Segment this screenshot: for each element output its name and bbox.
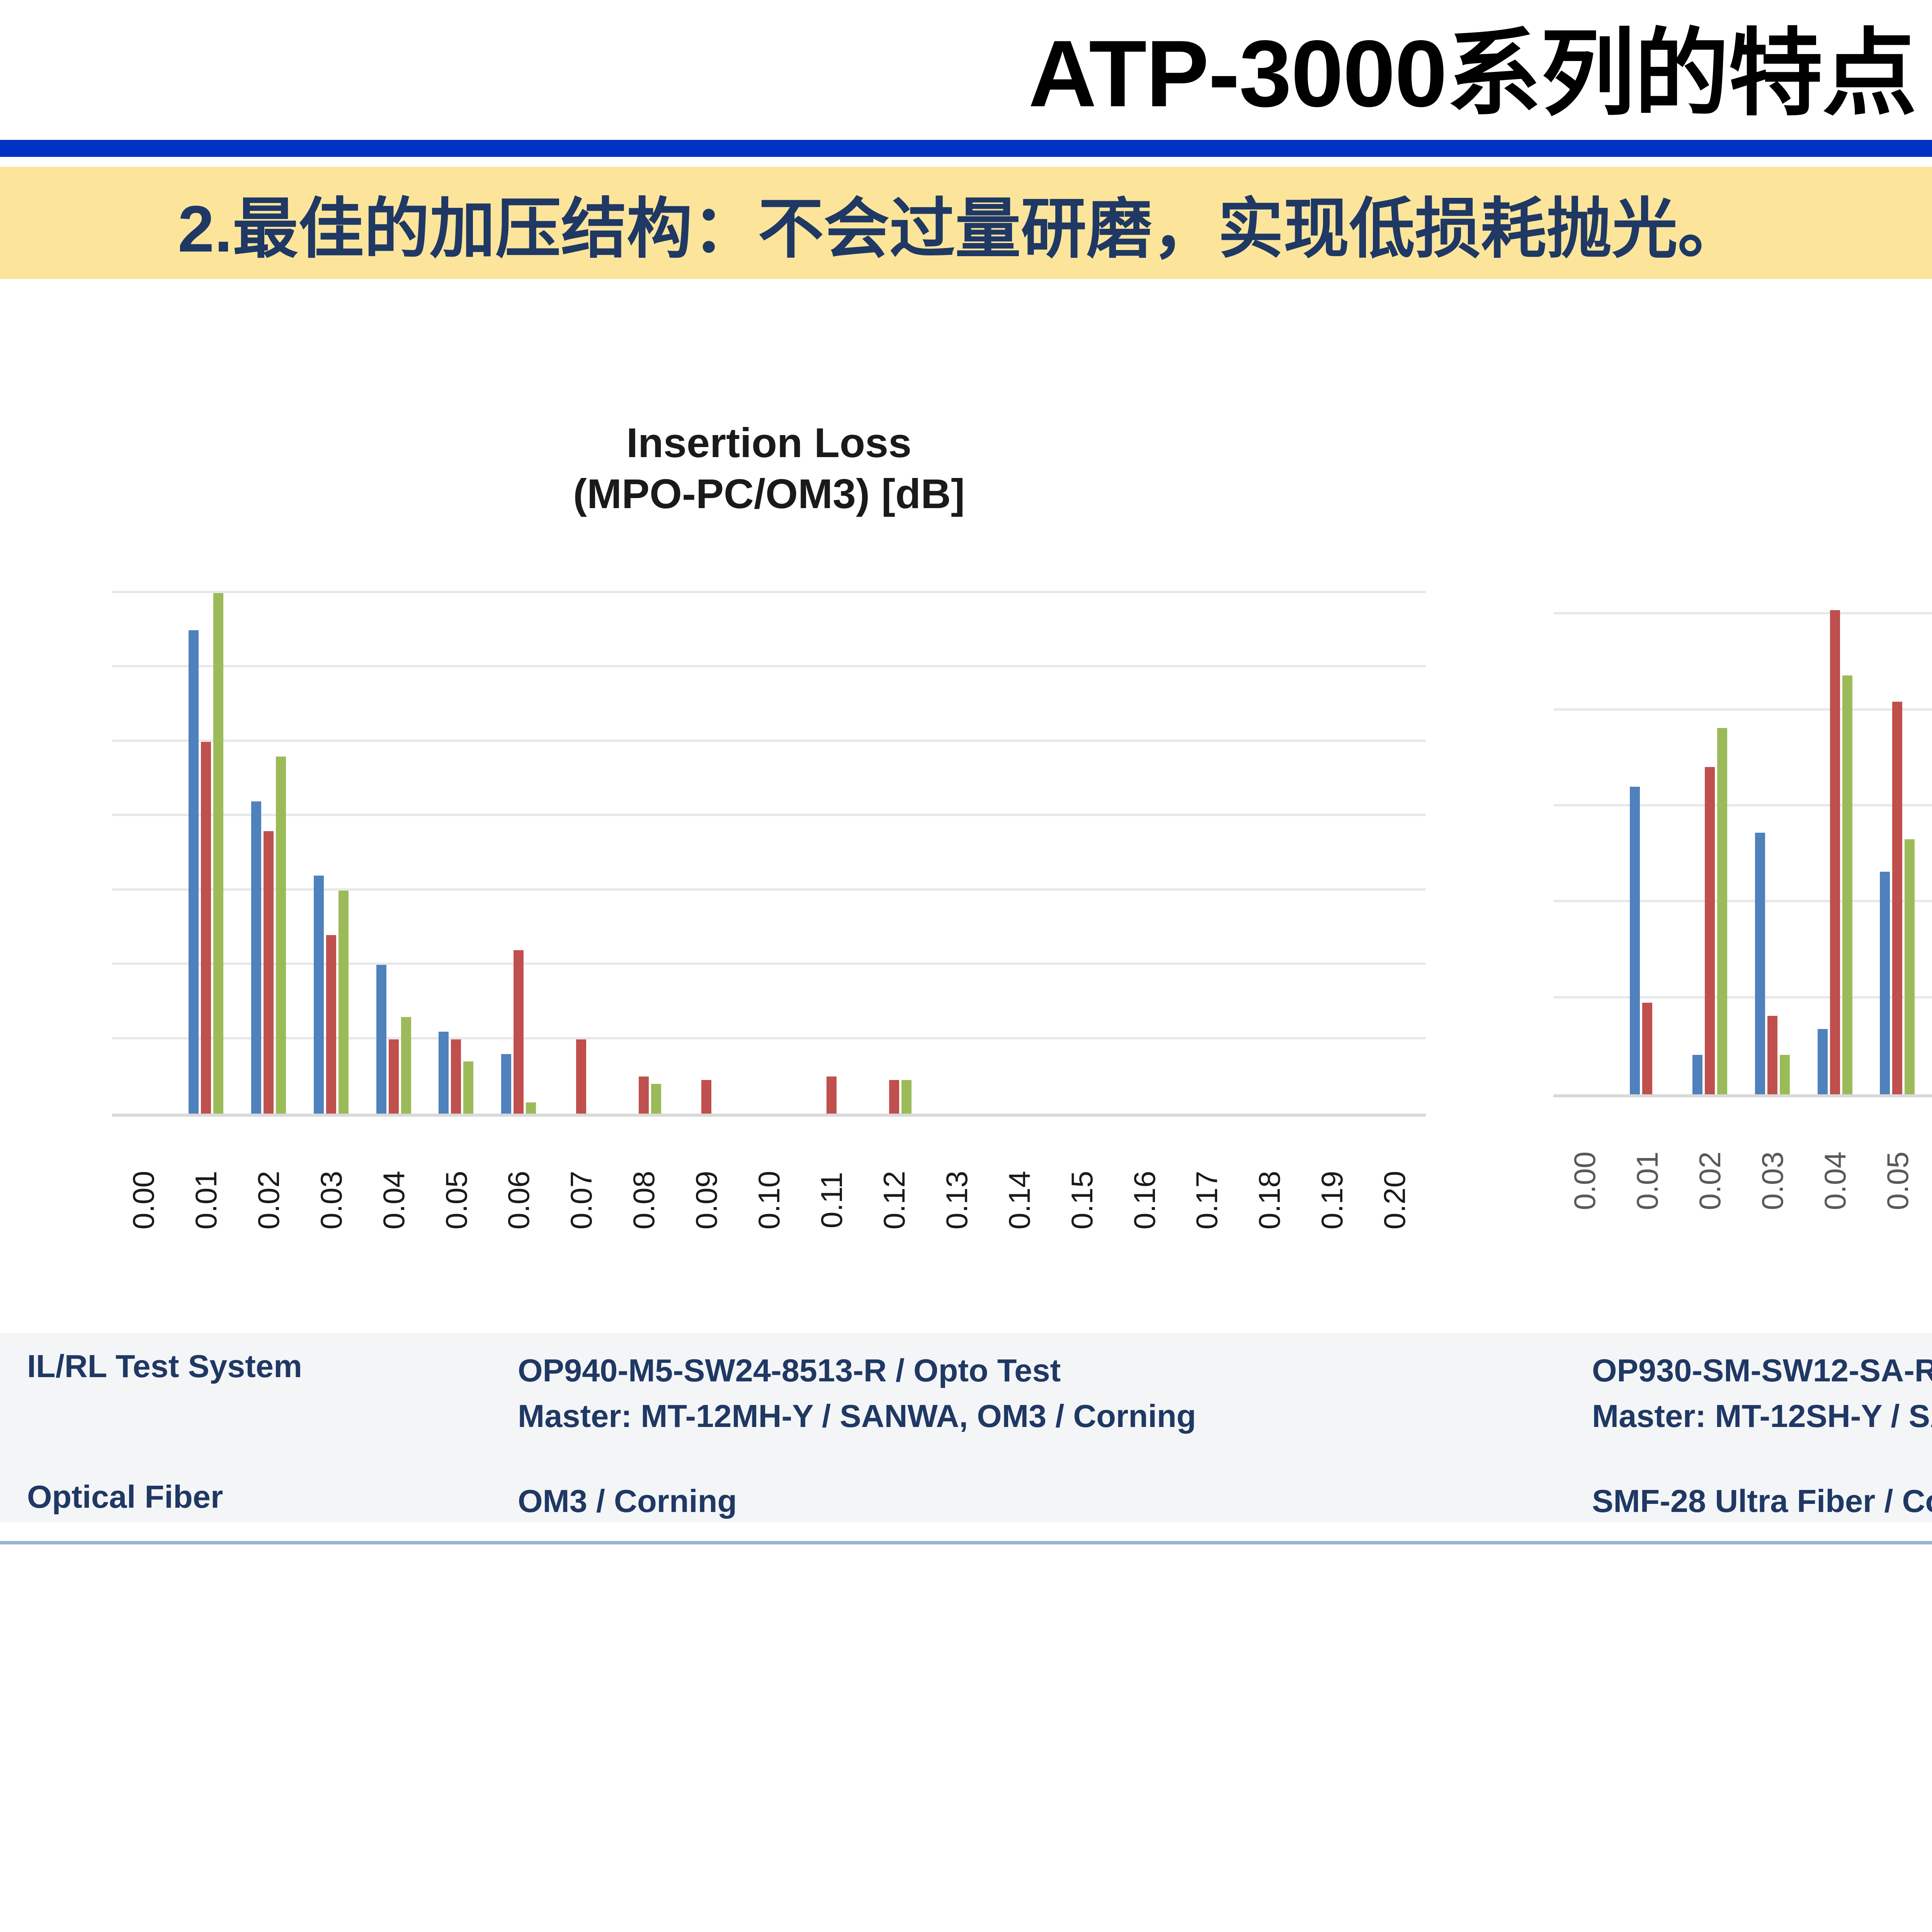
bar-group: [1553, 519, 1616, 1094]
chart-title-left: Insertion Loss (MPO-PC/OM3) [dB]: [112, 417, 1426, 522]
bar: [827, 1077, 837, 1114]
bar-group: [738, 519, 800, 1114]
x-tick-label: 0.09: [691, 1171, 721, 1230]
x-tick: 0.12: [863, 1121, 925, 1291]
row-label-optical-fiber: Optical Fiber: [27, 1478, 518, 1515]
x-tick: 0.20: [1363, 1121, 1426, 1291]
x-tick: 0.04: [362, 1121, 425, 1291]
bar-group: [1301, 519, 1363, 1114]
chart-title-left-line2: (MPO-PC/OM3) [dB]: [112, 468, 1426, 519]
x-tick-label: 0.01: [1632, 1151, 1662, 1210]
test-conditions-table-right: OP930-SM-SW12-SA-R / Opto Test Master: M…: [1592, 1333, 1932, 1522]
x-tick-label: 0.08: [629, 1171, 659, 1230]
table-row: SMF-28 Ultra Fiber / Corning: [1592, 1475, 1932, 1536]
x-tick-label: 0.19: [1317, 1171, 1347, 1230]
x-tick-label: 0.03: [1757, 1151, 1787, 1210]
bar-group: [925, 519, 988, 1114]
bar: [501, 1054, 511, 1114]
x-tick: 0.03: [1741, 1102, 1804, 1272]
x-tick: 0.06: [1929, 1102, 1932, 1272]
x-tick-label: 0.11: [816, 1172, 847, 1228]
bar: [514, 950, 524, 1114]
bar-group: [1679, 519, 1741, 1094]
subtitle-banner: 2.最佳的加压结构：不会过量研磨，实现低损耗抛光。: [0, 167, 1932, 279]
bar-group: [425, 519, 488, 1114]
test-conditions-table-left: IL/RL Test System OP940-M5-SW24-8513-R /…: [27, 1333, 1526, 1522]
bar: [401, 1017, 411, 1114]
x-tick: 0.03: [300, 1121, 362, 1291]
x-tick: 0.02: [237, 1121, 300, 1291]
x-tick-label: 0.05: [1882, 1151, 1912, 1210]
bar-series-container-left: [112, 519, 1426, 1114]
x-tick-label: 0.16: [1129, 1171, 1159, 1230]
x-tick: 0.09: [675, 1121, 738, 1291]
bar: [1717, 728, 1727, 1094]
x-tick-label: 0.18: [1254, 1171, 1284, 1230]
plot-wrapper-left: 0.000.010.020.030.040.050.060.070.080.09…: [112, 522, 1426, 1291]
title-divider-rule: [0, 140, 1932, 157]
bar: [1705, 767, 1715, 1094]
x-tick-label: 0.01: [191, 1171, 221, 1230]
x-tick: 0.00: [1553, 1102, 1616, 1272]
bar-group: [237, 519, 300, 1114]
x-tick-label: 0.04: [379, 1171, 409, 1230]
x-tick-label: 0.06: [503, 1171, 534, 1230]
bar-group: [1616, 519, 1679, 1094]
x-tick-label: 0.02: [253, 1171, 284, 1230]
x-tick-label: 0.12: [879, 1171, 909, 1230]
footer: NTT AT Copyright© 2018 NTT Advanced Tech…: [0, 1544, 1932, 1656]
x-axis-tick-labels-right: 0.000.010.020.030.040.050.060.070.080.09…: [1553, 1102, 1932, 1272]
row-value-optical-fiber: OM3 / Corning: [518, 1478, 737, 1524]
bar: [338, 891, 349, 1114]
test-conditions-strip: IL/RL Test System OP940-M5-SW24-8513-R /…: [0, 1333, 1932, 1522]
bar: [651, 1084, 661, 1114]
chart-panel-mpo-pc-om3: Insertion Loss (MPO-PC/OM3) [dB] 0.000.0…: [112, 417, 1426, 1291]
table-row: OP930-SM-SW12-SA-R / Opto Test Master: M…: [1592, 1333, 1932, 1475]
x-tick: 0.19: [1301, 1121, 1363, 1291]
x-tick: 0.04: [1804, 1102, 1866, 1272]
x-tick-label: 0.04: [1820, 1151, 1850, 1210]
x-tick-label: 0.02: [1695, 1151, 1725, 1210]
bar-group: [1363, 519, 1426, 1114]
x-tick-label: 0.00: [128, 1171, 158, 1230]
bar-group: [112, 519, 175, 1114]
bar: [264, 831, 274, 1114]
x-tick: 0.00: [112, 1121, 175, 1291]
value-line: Master: MT-12MH-Y / SANWA, OM3 / Corning: [518, 1393, 1196, 1439]
bar-group: [800, 519, 863, 1114]
bar: [1630, 787, 1640, 1094]
bar: [639, 1077, 649, 1114]
bar-group: [863, 519, 925, 1114]
value-line: OM3 / Corning: [518, 1478, 737, 1524]
x-axis-tick-labels-left: 0.000.010.020.030.040.050.060.070.080.09…: [112, 1121, 1426, 1291]
bar: [1780, 1055, 1790, 1094]
x-tick: 0.15: [1051, 1121, 1113, 1291]
value-line: OP940-M5-SW24-8513-R / Opto Test: [518, 1348, 1196, 1393]
bar: [1842, 675, 1852, 1094]
bar: [1880, 872, 1890, 1094]
x-tick: 0.18: [1238, 1121, 1301, 1291]
x-tick: 0.11: [800, 1121, 863, 1291]
bar: [189, 630, 199, 1114]
x-tick: 0.05: [1866, 1102, 1929, 1272]
bar-group: [988, 519, 1051, 1114]
chart-title-right-line2: (MPO-APC/OS2) [dB]: [1553, 468, 1932, 519]
row-value-il-rl-test-system: OP940-M5-SW24-8513-R / Opto Test Master:…: [518, 1348, 1196, 1439]
bar: [451, 1039, 461, 1114]
x-tick: 0.14: [988, 1121, 1051, 1291]
plot-wrapper-right: 0.000.010.020.030.040.050.060.070.080.09…: [1553, 522, 1932, 1272]
bar: [901, 1080, 912, 1114]
bar: [701, 1080, 711, 1114]
bar: [1767, 1016, 1777, 1094]
bar: [526, 1102, 536, 1114]
bar: [1905, 839, 1915, 1094]
table-row: IL/RL Test System OP940-M5-SW24-8513-R /…: [27, 1333, 1526, 1475]
bar-group: [550, 519, 612, 1114]
x-tick-label: 0.15: [1067, 1171, 1097, 1230]
table-row: Optical Fiber OM3 / Corning: [27, 1475, 1526, 1536]
value-line: Master: MT-12SH-Y / SANWA, SMF-28 Ultra …: [1592, 1393, 1932, 1439]
bar-group: [175, 519, 237, 1114]
bar: [576, 1039, 586, 1114]
bar-group: [1866, 519, 1929, 1094]
bar-group: [1175, 519, 1238, 1114]
row-value-il-rl-test-system-right: OP930-SM-SW12-SA-R / Opto Test Master: M…: [1592, 1348, 1932, 1439]
x-tick-label: 0.05: [441, 1171, 471, 1230]
bar-series-container-right: [1553, 519, 1932, 1094]
bar: [439, 1032, 449, 1114]
x-tick: 0.05: [425, 1121, 488, 1291]
bar: [376, 965, 386, 1114]
bar: [1642, 1003, 1652, 1094]
x-tick-label: 0.20: [1379, 1171, 1410, 1230]
row-value-optical-fiber-right: SMF-28 Ultra Fiber / Corning: [1592, 1478, 1932, 1524]
bar: [1830, 610, 1840, 1094]
row-label-il-rl-test-system: IL/RL Test System: [27, 1348, 518, 1385]
plot-area-left: [112, 522, 1426, 1117]
x-tick: 0.06: [487, 1121, 550, 1291]
bar-group: [1929, 519, 1932, 1094]
bar: [1818, 1029, 1828, 1094]
bar-group: [362, 519, 425, 1114]
page-title: ATP-3000系列的特点: [0, 7, 1932, 123]
value-line: OP930-SM-SW12-SA-R / Opto Test: [1592, 1348, 1932, 1393]
bar-group: [1113, 519, 1176, 1114]
bar-group: [675, 519, 738, 1114]
bar: [389, 1039, 399, 1114]
bar: [1692, 1055, 1702, 1094]
bar-group: [1238, 519, 1301, 1114]
x-tick: 0.16: [1113, 1121, 1176, 1291]
x-tick: 0.07: [550, 1121, 612, 1291]
bar: [213, 593, 223, 1114]
x-tick: 0.10: [738, 1121, 800, 1291]
value-line: SMF-28 Ultra Fiber / Corning: [1592, 1478, 1932, 1524]
bar: [1892, 702, 1902, 1094]
footer-divider-rule: [0, 1541, 1932, 1544]
bar-group: [300, 519, 362, 1114]
subtitle-text: 2.最佳的加压结构：不会过量研磨，实现低损耗抛光。: [178, 175, 1743, 270]
x-tick-label: 0.13: [942, 1171, 972, 1230]
bar: [276, 757, 286, 1114]
bar: [463, 1061, 473, 1114]
bar: [326, 935, 336, 1114]
x-tick: 0.13: [925, 1121, 988, 1291]
x-tick: 0.01: [175, 1121, 237, 1291]
x-axis-baseline: [112, 1114, 1426, 1117]
bar: [889, 1080, 899, 1114]
x-tick-label: 0.03: [316, 1171, 346, 1230]
bar: [201, 742, 211, 1114]
chart-title-right: Insertion Loss (MPO-APC/OS2) [dB]: [1553, 417, 1932, 522]
bar: [251, 801, 261, 1114]
x-axis-baseline: [1553, 1094, 1932, 1097]
bar-group: [1051, 519, 1113, 1114]
x-tick-label: 0.00: [1570, 1151, 1600, 1210]
chart-title-right-line1: Insertion Loss: [1553, 417, 1932, 468]
bar-group: [1804, 519, 1866, 1094]
x-tick: 0.17: [1175, 1121, 1238, 1291]
x-tick: 0.08: [612, 1121, 675, 1291]
bar: [314, 876, 324, 1114]
bar-group: [1741, 519, 1804, 1094]
x-tick-label: 0.17: [1192, 1171, 1222, 1230]
x-tick-label: 0.07: [566, 1171, 596, 1230]
plot-area-right: [1553, 522, 1932, 1097]
chart-panel-mpo-apc-os2: Insertion Loss (MPO-APC/OS2) [dB] 0.000.…: [1553, 417, 1932, 1272]
x-tick-label: 0.14: [1004, 1171, 1034, 1230]
x-tick: 0.01: [1616, 1102, 1679, 1272]
bar: [1755, 833, 1765, 1094]
chart-title-left-line1: Insertion Loss: [112, 417, 1426, 468]
x-tick-label: 0.10: [754, 1171, 784, 1230]
x-tick: 0.02: [1679, 1102, 1741, 1272]
bar-group: [612, 519, 675, 1114]
bar-group: [487, 519, 550, 1114]
